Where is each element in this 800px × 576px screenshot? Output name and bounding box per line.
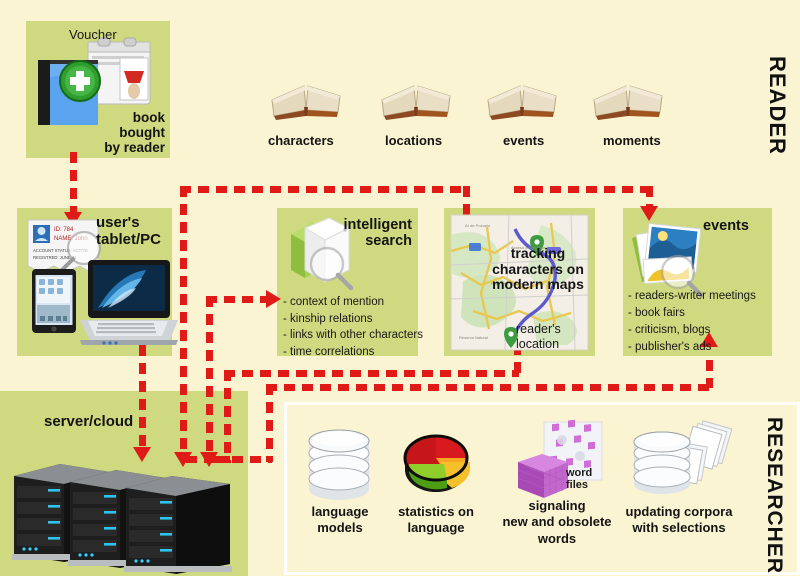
svg-text:files: files — [566, 479, 588, 491]
book-bought-line-3: by reader — [81, 140, 165, 155]
svg-text:Ar de Pozuelo: Ar de Pozuelo — [465, 223, 491, 228]
voucher-label: Voucher — [69, 27, 117, 44]
database-documents-icon — [628, 420, 738, 506]
intelligent-search-bullet: - context of mention — [283, 294, 423, 311]
map-title-line-2: characters on — [486, 262, 590, 278]
researcher-item-label-line: models — [290, 520, 390, 536]
book-row-label: moments — [603, 134, 661, 149]
researcher-item-label: updating corpora with selections — [613, 504, 745, 537]
researcher-item-label-line: signaling — [493, 498, 621, 514]
events-bullet: - publisher's ads — [628, 339, 756, 356]
svg-text:Reserva Natural: Reserva Natural — [459, 335, 488, 340]
arrowhead-into-search — [266, 290, 281, 308]
connector-lower-bus-a-drop — [224, 370, 231, 463]
connector-top-bus — [180, 186, 466, 193]
connector-tablet-to-server — [139, 345, 146, 450]
intelligent-search-bullet: - time correlations — [283, 344, 423, 361]
connector-bottom-bus — [266, 384, 712, 391]
tablet-pc-title-line-2: tablet/PC — [96, 232, 161, 249]
open-book-icon — [266, 66, 346, 122]
connector-book-to-tablet — [70, 152, 77, 214]
tablet-pc-title: user's tablet/PC — [96, 215, 161, 249]
book-row-label: events — [503, 134, 544, 149]
connector-search-riser — [206, 296, 213, 456]
researcher-item-label: language models — [290, 504, 390, 537]
events-bullet: - criticism, blogs — [628, 322, 756, 339]
reader-location-line-1: reader's — [516, 322, 561, 337]
connector-top-bus-right — [514, 186, 652, 193]
intelligent-search-bullet: - kinship relations — [283, 311, 423, 328]
events-bullet: - readers-writer meetings — [628, 288, 756, 305]
researcher-item-label-line: new and obsolete — [493, 514, 621, 530]
intelligent-search-bullets: - context of mention - kinship relations… — [283, 294, 423, 361]
reader-location-line-2: location — [516, 337, 561, 352]
researcher-item-label-line: statistics on — [386, 504, 486, 520]
connector-bottom-bus-drop — [266, 384, 273, 462]
events-bullets: - readers-writer meetings - book fairs -… — [628, 288, 756, 356]
events-title: events — [703, 218, 749, 234]
map-title-line-3: modern maps — [486, 277, 590, 293]
server-rack-icon — [8, 456, 238, 574]
band-label-researcher: RESEARCHER — [762, 417, 786, 574]
svg-text:word: word — [565, 467, 592, 479]
intelligent-search-title: intelligent search — [334, 217, 412, 249]
connector-left-spine — [180, 186, 187, 456]
diagram-canvas: READER RESEARCHER — [0, 0, 800, 576]
events-bullet: - book fairs — [628, 305, 756, 322]
researcher-item-label: signaling new and obsolete words — [493, 498, 621, 547]
book-row-label: locations — [385, 134, 442, 149]
book-bought-caption: book bought by reader — [81, 110, 165, 155]
connector-lower-bus-a — [224, 370, 519, 377]
tablet-icon — [31, 268, 77, 334]
intelligent-search-title-line-2: search — [334, 233, 412, 249]
connector-search-arm — [206, 296, 274, 303]
svg-text:ID: 784: ID: 784 — [54, 227, 74, 233]
map-title-line-1: tracking — [486, 246, 590, 262]
word-cubes-icon: word files — [516, 420, 606, 502]
researcher-item-label-line: language — [290, 504, 390, 520]
intelligent-search-bullet: - links with other characters — [283, 327, 423, 344]
laptop-icon — [78, 258, 178, 348]
researcher-item-label-line: with selections — [613, 520, 745, 536]
researcher-item-label-line: words — [493, 531, 621, 547]
database-stack-icon — [303, 428, 375, 502]
tablet-pc-title-line-1: user's — [96, 215, 161, 232]
book-row-label: characters — [268, 134, 334, 149]
open-book-icon — [376, 66, 456, 122]
reader-location-label: reader's location — [516, 322, 561, 352]
book-bought-line-1: book — [81, 110, 165, 125]
server-cloud-title: server/cloud — [44, 414, 133, 431]
open-book-icon — [482, 66, 562, 122]
band-label-reader: READER — [764, 56, 790, 155]
open-book-icon — [588, 66, 668, 122]
researcher-item-label-line: updating corpora — [613, 504, 745, 520]
map-title: tracking characters on modern maps — [486, 246, 590, 293]
pie-chart-icon — [400, 428, 472, 502]
researcher-item-label-line: language — [386, 520, 486, 536]
book-bought-line-2: bought — [81, 125, 165, 140]
intelligent-search-title-line-1: intelligent — [334, 217, 412, 233]
researcher-item-label: statistics on language — [386, 504, 486, 537]
